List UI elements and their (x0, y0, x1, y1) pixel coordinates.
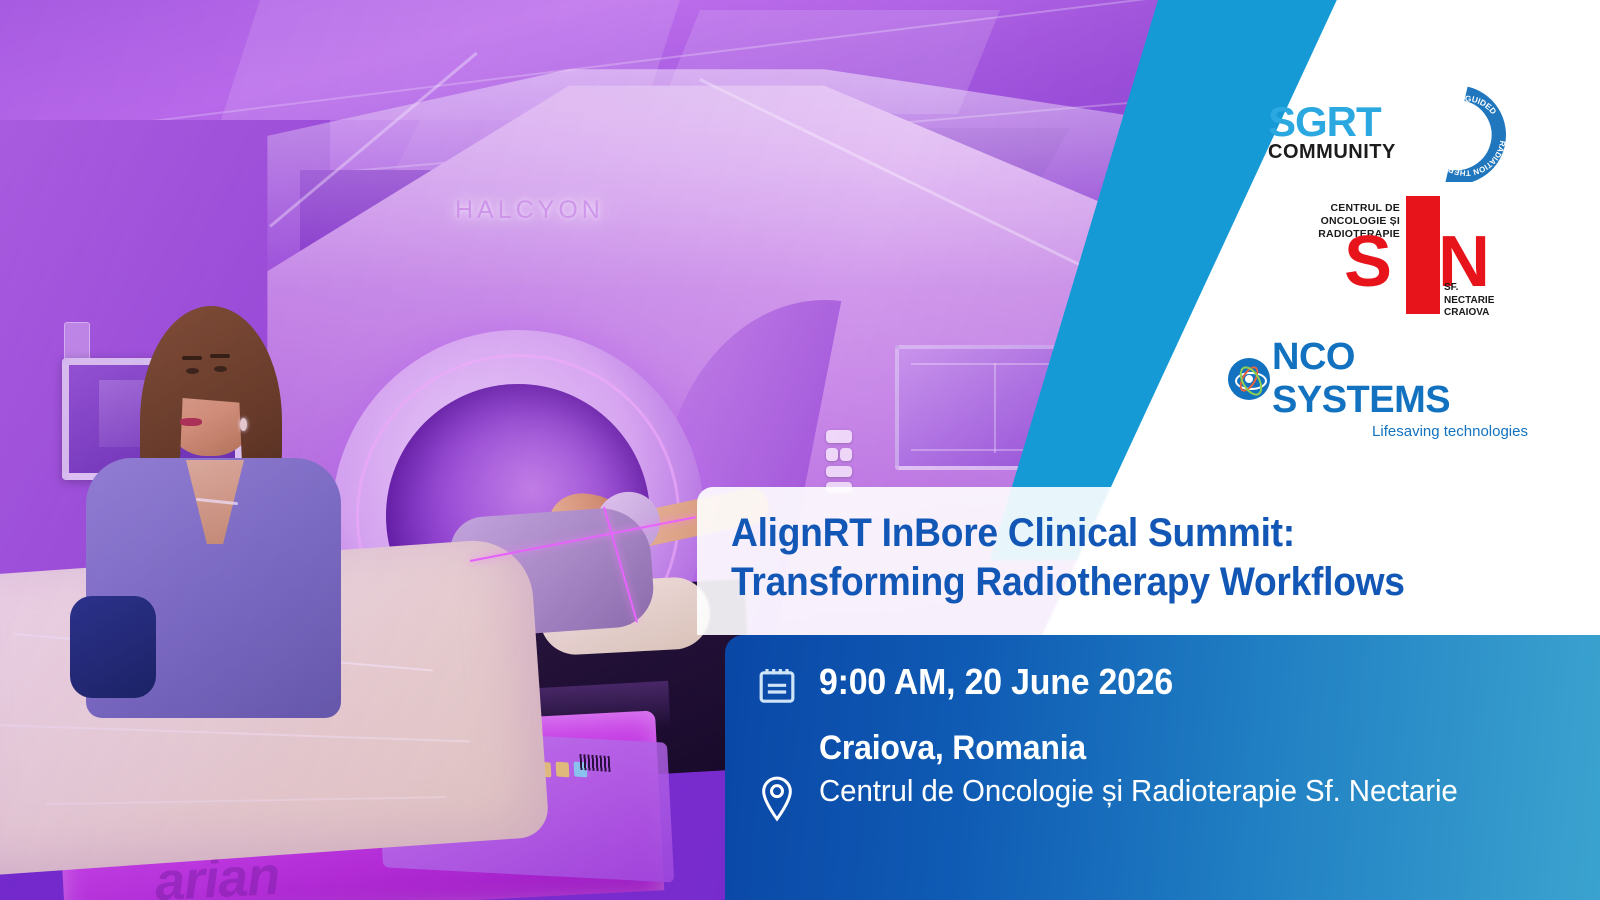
event-title-panel: AlignRT InBore Clinical Summit: Transfor… (697, 487, 1600, 635)
logo-stack: SGRT COMMUNITY SURFACE GUIDED RADIATION … (1240, 86, 1540, 440)
sgrt-wordmark: SGRT (1268, 102, 1396, 142)
event-title-line-1: AlignRT InBore Clinical Summit: (731, 509, 1508, 558)
onco-systems-logo: NCO SYSTEMS Lifesaving technologies (1228, 336, 1528, 440)
event-details-panel: 9:00 AM, 20 June 2026 Craiova, Romania C… (725, 635, 1600, 900)
hospital-mark-bar (1406, 196, 1440, 314)
event-city: Craiova, Romania (819, 728, 1525, 769)
hospital-logo: CENTRUL DE ONCOLOGIE ȘI RADIOTERAPIE S N… (1302, 196, 1532, 314)
hospital-mark-s: S (1344, 240, 1406, 290)
sgrt-community-logo: SGRT COMMUNITY SURFACE GUIDED RADIATION … (1268, 86, 1538, 182)
atom-icon (1228, 358, 1270, 400)
event-title-line-2: Transforming Radiotherapy Workflows (731, 558, 1508, 607)
event-location-row: Craiova, Romania Centrul de Oncologie și… (757, 728, 1570, 829)
hospital-mark-n: N (1438, 240, 1490, 285)
onco-wordmark: NCO SYSTEMS (1272, 336, 1528, 422)
map-pin-icon (757, 728, 819, 829)
onco-tagline: Lifesaving technologies (1228, 423, 1528, 440)
sgrt-ring-icon: SURFACE GUIDED RADIATION THERAPY (1418, 86, 1514, 182)
event-date-row: 9:00 AM, 20 June 2026 (757, 661, 1570, 714)
hospital-footer: SF. NECTARIE CRAIOVA (1444, 282, 1494, 320)
event-datetime: 9:00 AM, 20 June 2026 (819, 661, 1525, 702)
calendar-icon (757, 661, 819, 714)
event-venue: Centrul de Oncologie și Radioterapie Sf.… (819, 771, 1532, 811)
sgrt-subtitle: COMMUNITY (1268, 142, 1396, 162)
